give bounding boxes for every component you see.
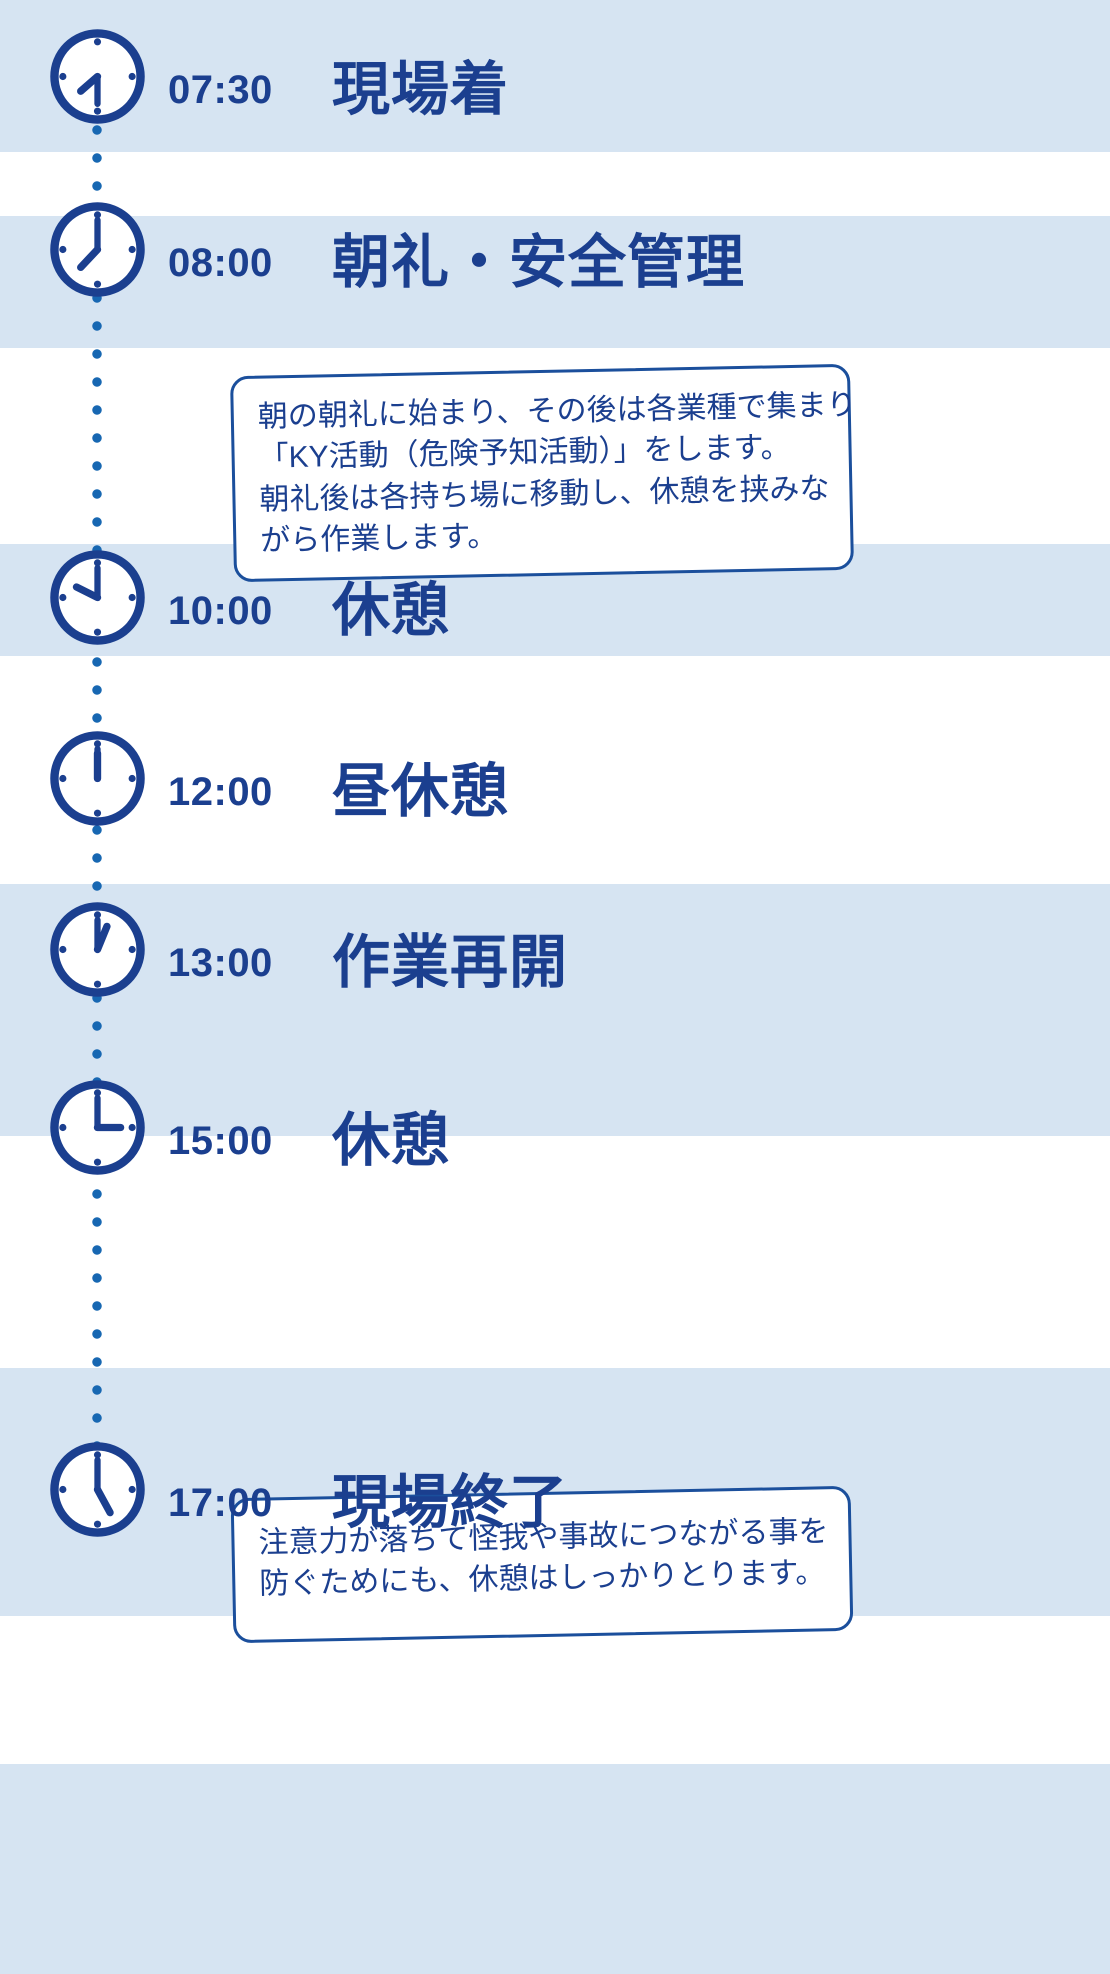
row-label: 作業再開: [332, 934, 568, 992]
timeline-row[interactable]: 13:00 作業再開: [0, 897, 1110, 1029]
timeline-infographic: 07:30 現場着 08:00 朝礼・安全管理 朝の朝礼に始まり、その後は各業種…: [0, 0, 1110, 1974]
clock-icon: [45, 545, 150, 650]
band-plain-5: [0, 1616, 1110, 1764]
row-label: 朝礼・安全管理: [332, 234, 745, 292]
row-label: 休憩: [332, 582, 450, 640]
clock-icon: [45, 1075, 150, 1180]
clock-icon: [45, 726, 150, 831]
row-time: 10:00: [168, 589, 273, 634]
row-time: 08:00: [168, 241, 273, 286]
timeline-row[interactable]: 12:00 昼休憩: [0, 726, 1110, 858]
clock-icon: [45, 897, 150, 1002]
clock-icon: [45, 197, 150, 302]
timeline-row[interactable]: 15:00 休憩: [0, 1075, 1110, 1207]
row-time: 12:00: [168, 770, 273, 815]
timeline-row[interactable]: 08:00 朝礼・安全管理: [0, 197, 1110, 329]
timeline-row[interactable]: 17:00 現場終了: [0, 1437, 1110, 1569]
row-time: 07:30: [168, 68, 273, 113]
row-time: 15:00: [168, 1119, 273, 1164]
band-tint-6: [0, 1764, 1110, 1974]
row-label: 休憩: [332, 1112, 450, 1170]
clock-icon: [45, 1437, 150, 1542]
row-label: 昼休憩: [332, 763, 509, 821]
row-time: 13:00: [168, 941, 273, 986]
timeline-row[interactable]: 10:00 休憩: [0, 545, 1110, 677]
row-label: 現場着: [332, 61, 509, 119]
clock-icon: [45, 24, 150, 129]
row-time: 17:00: [168, 1481, 273, 1526]
row-label: 現場終了: [332, 1474, 568, 1532]
timeline-row[interactable]: 07:30 現場着: [0, 24, 1110, 156]
